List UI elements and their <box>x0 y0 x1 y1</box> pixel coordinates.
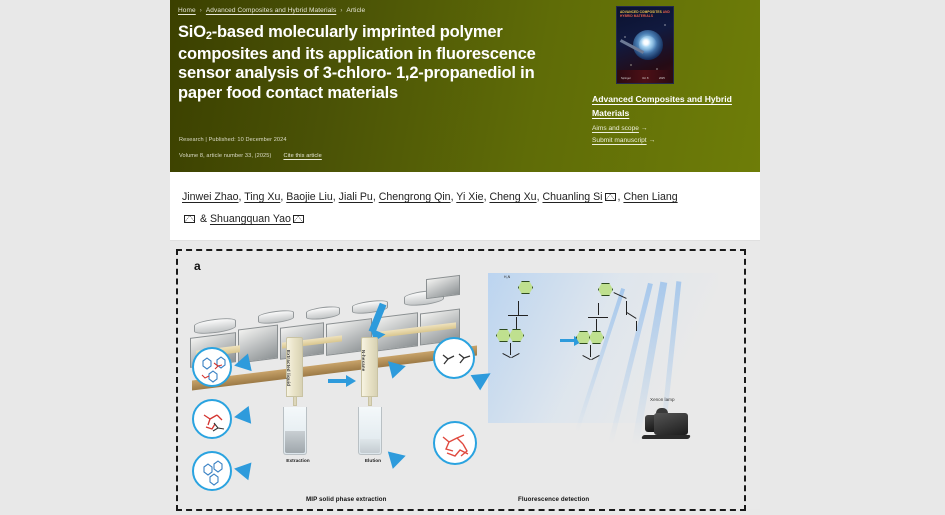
molecule-mip-icon <box>435 423 479 467</box>
envelope-icon-si[interactable] <box>605 193 616 201</box>
arrow-to-circle-3 <box>233 460 252 481</box>
machine-roll-2 <box>258 309 294 325</box>
bond-3 <box>516 317 517 329</box>
spe-tube-2-label: N-hexane <box>361 350 366 408</box>
bond-11 <box>598 303 599 315</box>
author-link-2[interactable]: Baojie Liu <box>286 191 333 203</box>
vial-1-liquid <box>285 431 305 453</box>
column-2-caption: Elution <box>353 459 393 464</box>
arrow-transfer <box>328 379 346 383</box>
caption-mip-solid-phase-extraction: MIP solid phase extraction <box>306 496 387 503</box>
bond-14 <box>590 345 591 357</box>
lamp-base <box>641 435 691 439</box>
molecule-mixture-icon <box>194 349 234 389</box>
journal-title-link[interactable]: Advanced Composites and Hybrid Materials <box>592 92 760 120</box>
spe-tube-2: N-hexane <box>361 337 378 397</box>
bond-10 <box>636 321 637 331</box>
author-link-3[interactable]: Jiali Pu <box>339 191 373 203</box>
fluorescence-detection-area: H₂N <box>478 261 744 491</box>
machine-roll-3 <box>306 305 340 321</box>
collection-vial-2 <box>358 407 382 455</box>
screenshot-root: Home › Advanced Composites and Hybrid Ma… <box>0 0 945 515</box>
journal-header: Home › Advanced Composites and Hybrid Ma… <box>170 0 760 172</box>
arrow-transfer-head <box>346 375 356 387</box>
author-link-8[interactable]: Chen Liang <box>623 191 677 203</box>
envelope-icon-liang[interactable] <box>184 215 195 223</box>
arrow-to-circle-1 <box>232 354 251 375</box>
column-1-caption: Extraction <box>278 459 318 464</box>
cover-foot-left: Springer <box>621 77 631 80</box>
author-line-1: Jinwei Zhao, Ting Xu, Baojie Liu, Jiali … <box>182 186 748 208</box>
bond-4 <box>510 343 511 355</box>
title-subscript-2: 2 <box>206 30 212 42</box>
breadcrumb-current: Article <box>346 7 365 14</box>
title-line-1b: -based molecularly imprinted polymer <box>212 23 503 41</box>
circle-eluted-analyte <box>433 337 475 379</box>
lamp-body <box>654 413 688 435</box>
cover-title: ADVANCED COMPOSITES AND HYBRID MATERIALS <box>620 10 670 19</box>
molecule-monomer-icon <box>194 453 234 493</box>
breadcrumb-separator-2: › <box>340 8 342 14</box>
aims-and-scope-label: Aims and scope <box>592 125 639 132</box>
cite-this-article-link[interactable]: Cite this article <box>283 153 321 159</box>
arrow-right-icon-2: → <box>649 137 656 144</box>
title-line-2: composites and its application in <box>178 45 432 63</box>
journal-cover-image[interactable]: ADVANCED COMPOSITES AND HYBRID MATERIALS… <box>616 6 674 84</box>
bond-13 <box>596 319 597 331</box>
author-link-0[interactable]: Jinwei Zhao <box>182 191 239 203</box>
cover-footer: Springer Vol. 8 2025 <box>617 70 673 83</box>
arrow-reaction <box>560 339 574 342</box>
figure-region: a <box>170 241 760 509</box>
volume-info: Volume 8, article number 33, (2025) <box>179 153 271 159</box>
title-sio2: SiO <box>178 23 206 41</box>
title-line-5: materials <box>327 84 398 102</box>
circle-monomer <box>192 451 232 491</box>
spe-tip-1 <box>293 397 297 406</box>
author-link-6[interactable]: Cheng Xu <box>489 191 536 203</box>
circle-mip-polymer <box>433 421 477 465</box>
ampersand: & <box>200 213 207 225</box>
spe-tube-1-label: Extracted liquid <box>286 350 291 408</box>
author-link-5[interactable]: Yi Xie <box>456 191 483 203</box>
cover-foot-right: 2025 <box>659 77 665 80</box>
machine-top-unit <box>426 275 460 299</box>
arrow-to-circle-5 <box>388 447 408 469</box>
cover-title-line1: ADVANCED COMPOSITES <box>620 10 662 14</box>
submit-manuscript-link[interactable]: Submit manuscript→ <box>592 137 760 144</box>
figure-panel-a[interactable]: a <box>176 249 746 511</box>
aims-and-scope-link[interactable]: Aims and scope→ <box>592 125 760 132</box>
vial-2-liquid <box>360 439 380 453</box>
author-list: Jinwei Zhao, Ting Xu, Baojie Liu, Jiali … <box>170 172 760 241</box>
spe-tip-2 <box>368 397 372 406</box>
breadcrumb-home[interactable]: Home <box>178 7 196 14</box>
submit-manuscript-label: Submit manuscript <box>592 137 647 144</box>
article-page: Home › Advanced Composites and Hybrid Ma… <box>170 0 760 515</box>
article-title: SiO2-based molecularly imprinted polymer… <box>178 23 563 103</box>
spe-tube-1: Extracted liquid <box>286 337 303 397</box>
journal-rail: ADVANCED COMPOSITES AND HYBRID MATERIALS… <box>584 6 760 144</box>
journal-title-text: Advanced Composites and Hybrid Materials <box>592 94 732 118</box>
bond-12 <box>588 317 608 318</box>
bond-1 <box>518 301 519 315</box>
author-line-2: & Shuangquan Yao <box>182 208 748 230</box>
caption-fluorescence-detection: Fluorescence detection <box>518 496 589 503</box>
envelope-icon-yao[interactable] <box>293 215 304 223</box>
arrow-right-icon: → <box>641 125 648 132</box>
cover-molecule-graphic <box>633 30 663 60</box>
collection-vial-1 <box>283 407 307 455</box>
article-type-and-date: Research | Published: 10 December 2024 <box>179 137 287 143</box>
author-link-1[interactable]: Ting Xu <box>244 191 280 203</box>
arrow-to-circle-2 <box>233 406 251 426</box>
circle-mixture <box>192 347 232 387</box>
circle-template <box>192 399 232 439</box>
breadcrumb-separator-1: › <box>200 8 202 14</box>
bond-2 <box>508 315 528 316</box>
author-link-4[interactable]: Chengrong Qin <box>379 191 451 203</box>
breadcrumb-journal[interactable]: Advanced Composites and Hybrid Materials <box>206 7 336 14</box>
author-link-9[interactable]: Shuangquan Yao <box>210 213 291 225</box>
xenon-lamp-label: Xenon lamp <box>650 397 675 402</box>
molecule-template-icon <box>194 401 234 441</box>
cover-foot-mid: Vol. 8 <box>642 77 649 80</box>
author-link-7[interactable]: Chuanling Si <box>542 191 602 203</box>
article-volume-row: Volume 8, article number 33, (2025) Cite… <box>179 153 322 159</box>
nh2-label: H₂N <box>504 275 510 279</box>
